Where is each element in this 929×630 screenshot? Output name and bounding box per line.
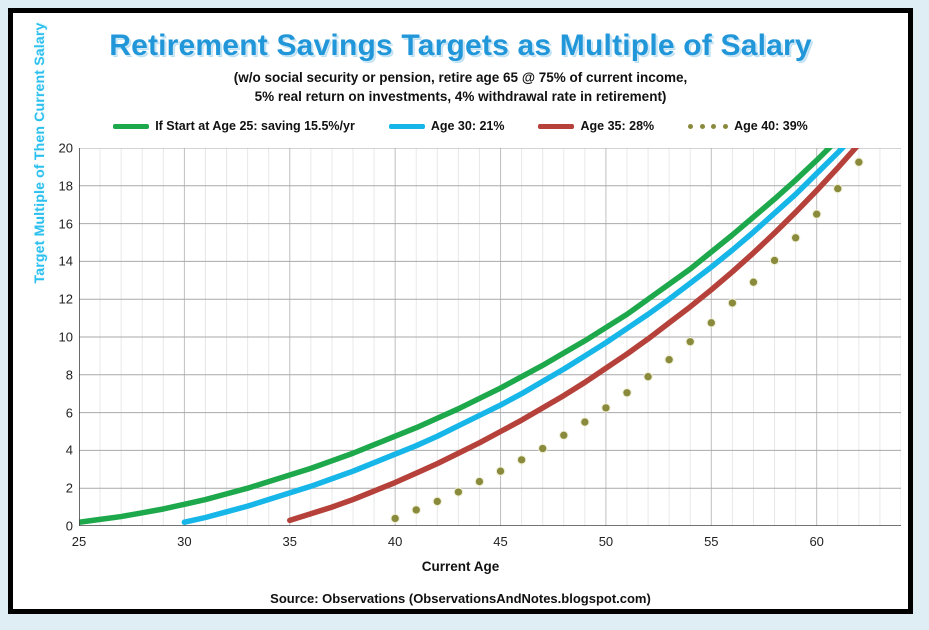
x-tick-label-5: 50 bbox=[599, 534, 613, 549]
y-tick-label-6: 12 bbox=[59, 292, 73, 307]
y-tick-label-7: 14 bbox=[59, 254, 73, 269]
x-tick-label-0: 25 bbox=[72, 534, 86, 549]
y-tick-label-8: 16 bbox=[59, 216, 73, 231]
x-axis-title: Current Age bbox=[13, 559, 908, 574]
y-tick-label-5: 10 bbox=[59, 330, 73, 345]
y-tick-label-2: 4 bbox=[66, 443, 73, 458]
chart-frame: Retirement Savings Targets as Multiple o… bbox=[8, 8, 913, 614]
legend-item-0[interactable]: If Start at Age 25: saving 15.5%/yr bbox=[113, 119, 355, 133]
legend-label-0: If Start at Age 25: saving 15.5%/yr bbox=[155, 119, 355, 133]
chart-title: Retirement Savings Targets as Multiple o… bbox=[13, 29, 908, 63]
chart-subtitle-line-1: (w/o social security or pension, retire … bbox=[13, 68, 908, 87]
chart-subtitle: (w/o social security or pension, retire … bbox=[13, 68, 908, 106]
y-tick-label-9: 18 bbox=[59, 178, 73, 193]
legend-item-1[interactable]: Age 30: 21% bbox=[389, 119, 505, 133]
legend-swatch-2 bbox=[538, 124, 574, 129]
x-axis-tick-labels: 2530354045505560 bbox=[79, 534, 901, 554]
legend-item-3[interactable]: Age 40: 39% bbox=[688, 119, 808, 133]
x-tick-label-2: 35 bbox=[283, 534, 297, 549]
chart-legend: If Start at Age 25: saving 15.5%/yrAge 3… bbox=[13, 116, 908, 136]
y-tick-label-10: 20 bbox=[59, 141, 73, 156]
chart-subtitle-line-2: 5% real return on investments, 4% withdr… bbox=[13, 87, 908, 106]
y-tick-label-1: 2 bbox=[66, 481, 73, 496]
y-axis-title: Target Multiple of Then Current Salary bbox=[31, 8, 47, 303]
legend-swatch-0 bbox=[113, 124, 149, 129]
legend-label-1: Age 30: 21% bbox=[431, 119, 505, 133]
x-tick-label-4: 45 bbox=[493, 534, 507, 549]
legend-swatch-3 bbox=[688, 123, 728, 129]
x-tick-label-6: 55 bbox=[704, 534, 718, 549]
plot-area bbox=[79, 148, 901, 526]
x-tick-label-1: 30 bbox=[177, 534, 191, 549]
legend-swatch-1 bbox=[389, 124, 425, 129]
x-tick-label-7: 60 bbox=[809, 534, 823, 549]
y-tick-label-3: 6 bbox=[66, 405, 73, 420]
chart-svg bbox=[79, 148, 901, 526]
y-tick-label-0: 0 bbox=[66, 519, 73, 534]
y-tick-label-4: 8 bbox=[66, 367, 73, 382]
x-tick-label-3: 40 bbox=[388, 534, 402, 549]
y-axis-tick-labels: 02468101214161820 bbox=[47, 148, 73, 526]
legend-label-2: Age 35: 28% bbox=[580, 119, 654, 133]
source-note: Source: Observations (ObservationsAndNot… bbox=[13, 591, 908, 606]
legend-item-2[interactable]: Age 35: 28% bbox=[538, 119, 654, 133]
legend-label-3: Age 40: 39% bbox=[734, 119, 808, 133]
